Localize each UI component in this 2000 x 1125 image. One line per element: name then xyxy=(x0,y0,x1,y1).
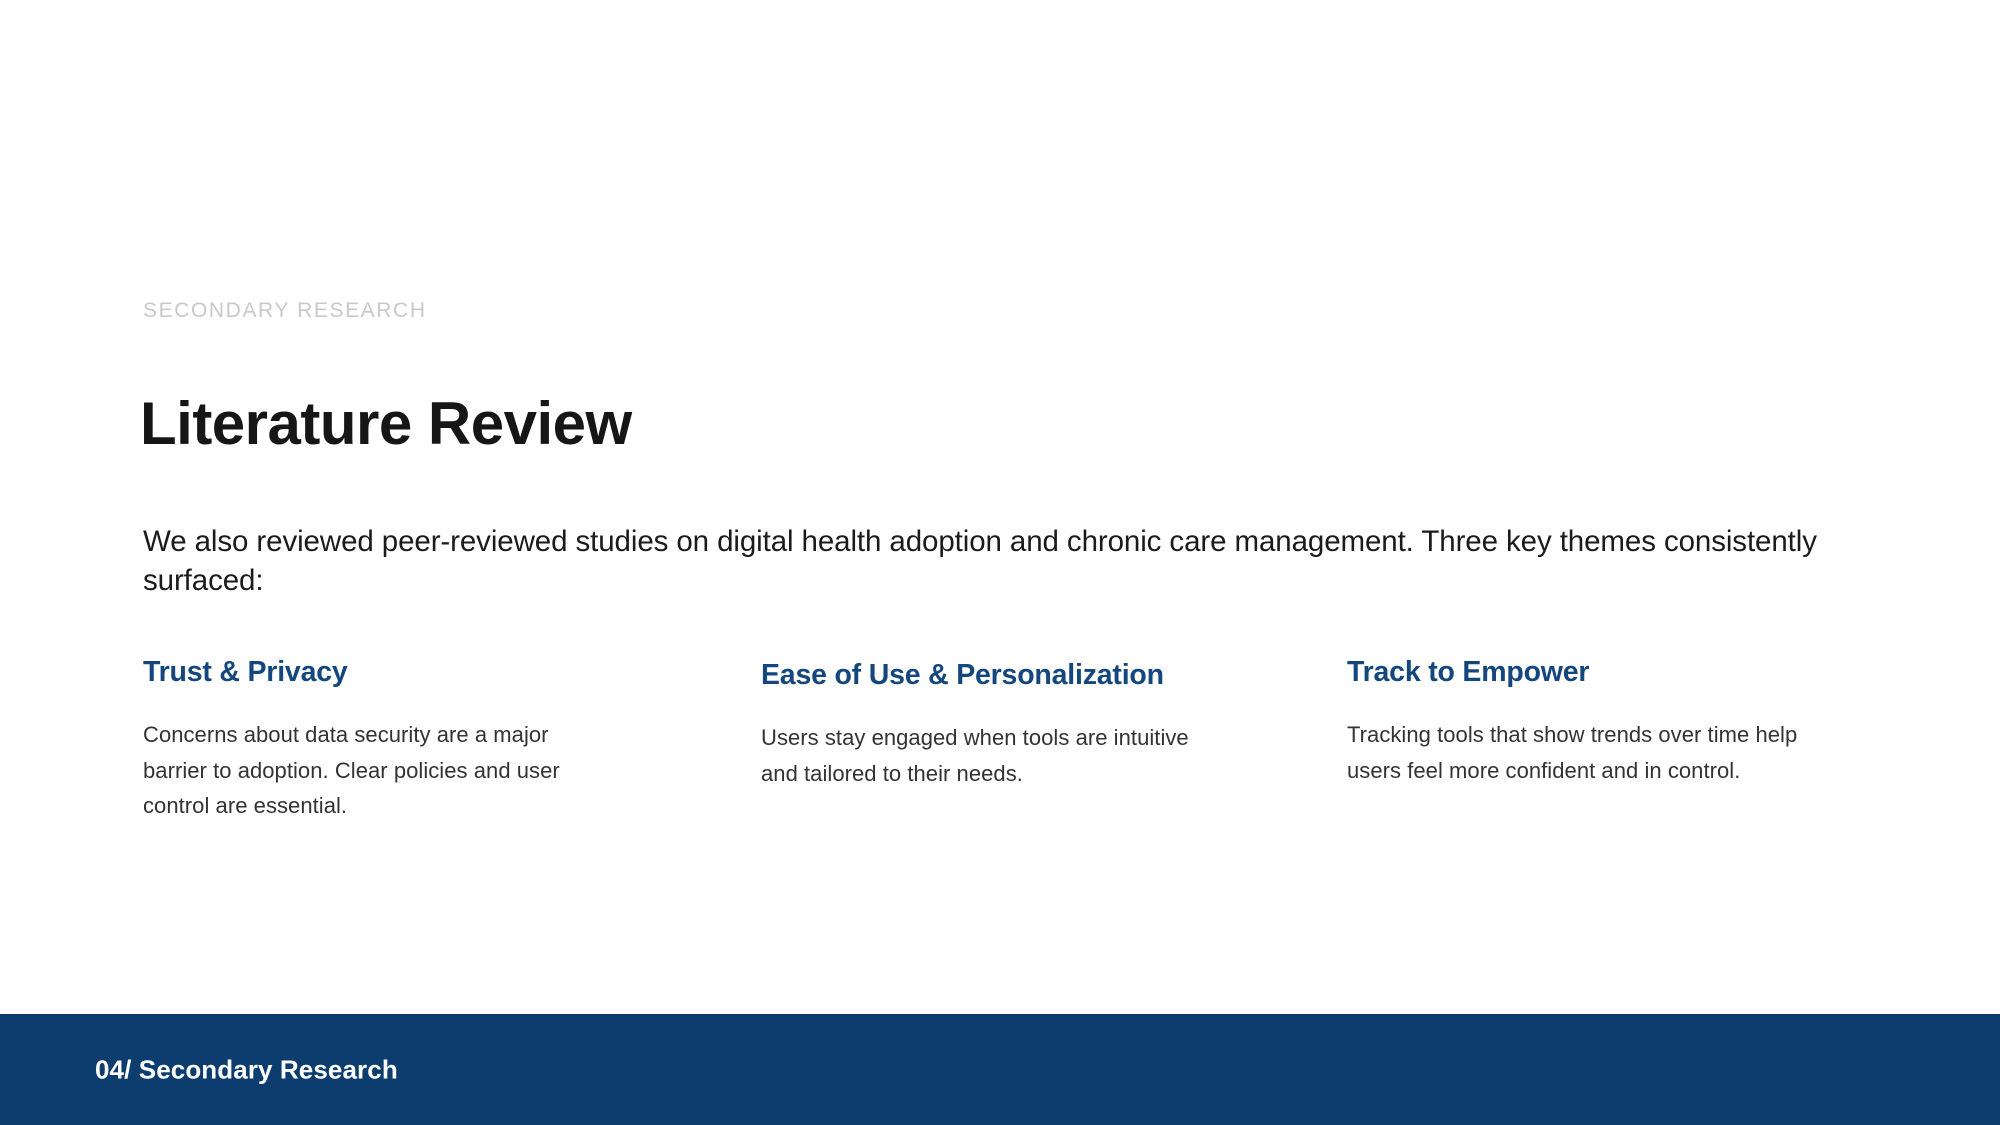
theme-title: Track to Empower xyxy=(1347,655,1827,689)
theme-card-track-to-empower: Track to Empower Tracking tools that sho… xyxy=(1347,655,1827,788)
slide-canvas: SECONDARY RESEARCH Literature Review We … xyxy=(0,0,2000,1125)
theme-title: Ease of Use & Personalization xyxy=(761,658,1217,692)
theme-title: Trust & Privacy xyxy=(143,655,598,689)
theme-body: Tracking tools that show trends over tim… xyxy=(1347,717,1827,788)
theme-body: Users stay engaged when tools are intuit… xyxy=(761,720,1217,791)
theme-card-trust-privacy: Trust & Privacy Concerns about data secu… xyxy=(143,655,628,824)
footer-bar: 04/ Secondary Research xyxy=(0,1014,2000,1125)
footer-section-label: 04/ Secondary Research xyxy=(95,1054,398,1085)
section-eyebrow: SECONDARY RESEARCH xyxy=(143,298,427,323)
themes-row: Trust & Privacy Concerns about data secu… xyxy=(143,655,1873,824)
intro-paragraph: We also reviewed peer-reviewed studies o… xyxy=(143,522,1843,601)
theme-body: Concerns about data security are a major… xyxy=(143,717,598,824)
theme-card-ease-of-use: Ease of Use & Personalization Users stay… xyxy=(761,655,1247,791)
page-title: Literature Review xyxy=(140,390,632,457)
